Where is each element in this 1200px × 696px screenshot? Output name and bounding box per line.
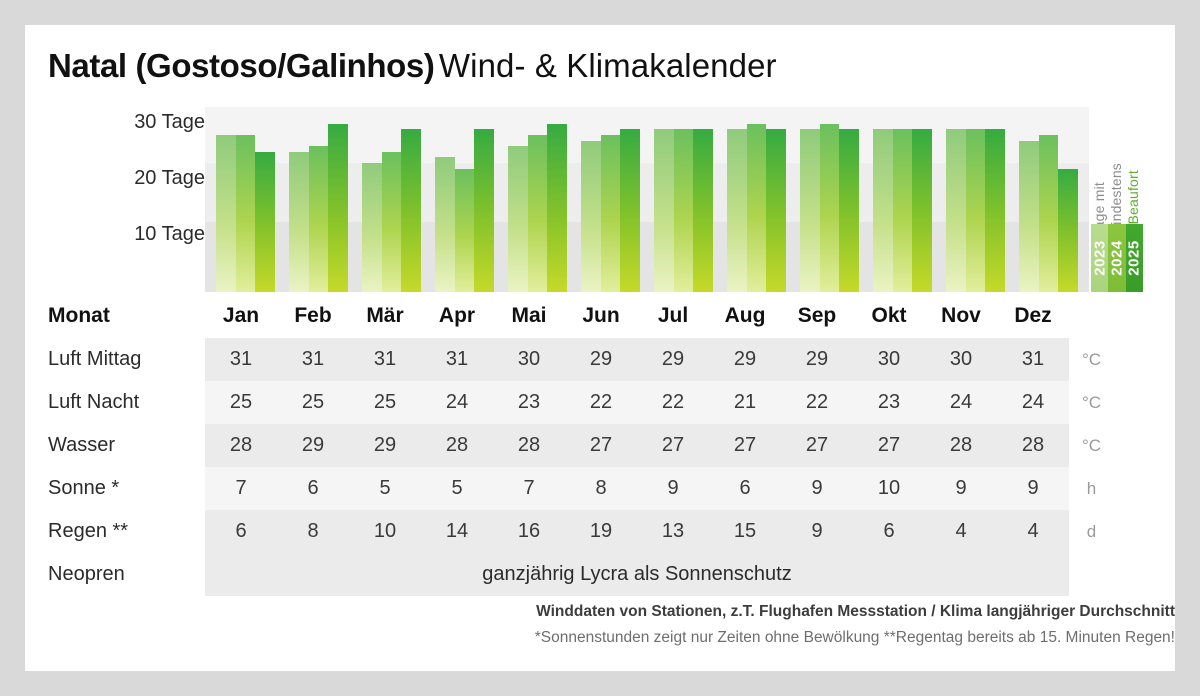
bar-aug-2023 <box>727 129 747 292</box>
table-cell: 28 <box>421 424 493 467</box>
row-unit: °C <box>1069 381 1114 424</box>
bar-jun-2023 <box>581 141 601 292</box>
table-header-unit <box>1069 293 1114 338</box>
table-cell: 29 <box>709 338 781 381</box>
table-header-month-sep: Sep <box>781 293 853 338</box>
bar-mai-2024 <box>528 135 548 292</box>
bar-mai-2023 <box>508 146 528 292</box>
table-row: Luft Mittag313131313029292929303031°C <box>25 338 1114 381</box>
table-cell: 30 <box>853 338 925 381</box>
table-cell: 31 <box>421 338 493 381</box>
table-header-month-okt: Okt <box>853 293 925 338</box>
chart-y-axis: 30 Tage20 Tage10 Tage <box>25 107 205 292</box>
table-header-month-feb: Feb <box>277 293 349 338</box>
footnote-definitions: *Sonnenstunden zeigt nur Zeiten ohne Bew… <box>25 625 1175 651</box>
bar-okt-2023 <box>873 129 893 292</box>
bar-okt-2025 <box>912 129 932 292</box>
chart-legend: Tage mit mindestens 4 Beaufort 2023 2024… <box>1089 107 1175 292</box>
table-cell: 5 <box>349 467 421 510</box>
bar-group-jan <box>209 107 282 292</box>
bar-mär-2024 <box>382 152 402 292</box>
table-cell: 6 <box>205 510 277 553</box>
bar-group-dez <box>1012 107 1085 292</box>
bar-group-apr <box>428 107 501 292</box>
bar-jan-2024 <box>236 135 256 292</box>
chart-bars <box>205 107 1089 292</box>
bar-apr-2025 <box>474 129 494 292</box>
table-header-row: MonatJanFebMärAprMaiJunJulAugSepOktNovDe… <box>25 293 1114 338</box>
footnote-sources: Winddaten von Stationen, z.T. Flughafen … <box>25 599 1175 625</box>
bar-group-jul <box>647 107 720 292</box>
bar-sep-2024 <box>820 124 840 292</box>
table-cell: 4 <box>997 510 1069 553</box>
table-cell: 22 <box>637 381 709 424</box>
table-cell: 27 <box>637 424 709 467</box>
bar-mär-2023 <box>362 163 382 292</box>
table-cell: 31 <box>277 338 349 381</box>
bar-jan-2025 <box>255 152 275 292</box>
table-cell: 31 <box>349 338 421 381</box>
bar-group-feb <box>282 107 355 292</box>
bar-group-sep <box>793 107 866 292</box>
table-cell: 16 <box>493 510 565 553</box>
table-cell: 23 <box>493 381 565 424</box>
table-cell: 28 <box>925 424 997 467</box>
table-row: Regen **681014161913159644d <box>25 510 1114 553</box>
row-label: Luft Mittag <box>25 338 205 381</box>
table-cell: 23 <box>853 381 925 424</box>
table-header-month-jan: Jan <box>205 293 277 338</box>
table-cell: 21 <box>709 381 781 424</box>
row-label: Wasser <box>25 424 205 467</box>
neopren-recommendation: ganzjährig Lycra als Sonnenschutz <box>205 553 1069 596</box>
table-cell: 6 <box>853 510 925 553</box>
page-title-location: Natal (Gostoso/Galinhos) <box>48 47 434 84</box>
row-label: Sonne * <box>25 467 205 510</box>
table-cell: 5 <box>421 467 493 510</box>
table-cell: 9 <box>781 467 853 510</box>
table-header-month-nov: Nov <box>925 293 997 338</box>
table-cell: 31 <box>205 338 277 381</box>
table-cell: 8 <box>277 510 349 553</box>
legend-swatch-2024: 2024 <box>1108 224 1125 292</box>
row-label: Luft Nacht <box>25 381 205 424</box>
table-header-month-mär: Mär <box>349 293 421 338</box>
bar-group-okt <box>866 107 939 292</box>
bar-group-mär <box>355 107 428 292</box>
table-cell: 25 <box>349 381 421 424</box>
y-axis-tick-30: 30 Tage <box>134 111 205 134</box>
table-cell: 31 <box>997 338 1069 381</box>
bar-jul-2023 <box>654 129 674 292</box>
bar-okt-2024 <box>893 129 913 292</box>
row-unit: °C <box>1069 424 1114 467</box>
table-cell: 9 <box>781 510 853 553</box>
row-unit <box>1069 553 1114 596</box>
table-cell: 27 <box>565 424 637 467</box>
table-cell: 7 <box>205 467 277 510</box>
bar-sep-2023 <box>800 129 820 292</box>
table-cell: 27 <box>709 424 781 467</box>
table-row: Sonne *7655789691099h <box>25 467 1114 510</box>
bar-nov-2024 <box>966 129 986 292</box>
table-cell: 6 <box>277 467 349 510</box>
bar-jan-2023 <box>216 135 236 292</box>
climate-table: MonatJanFebMärAprMaiJunJulAugSepOktNovDe… <box>25 293 1114 596</box>
table-header-month-mai: Mai <box>493 293 565 338</box>
bar-group-aug <box>720 107 793 292</box>
table-header-month-jul: Jul <box>637 293 709 338</box>
bar-jun-2025 <box>620 129 640 292</box>
table-cell: 29 <box>781 338 853 381</box>
table-cell: 28 <box>997 424 1069 467</box>
legend-swatch-label: 2024 <box>1108 240 1125 275</box>
table-cell: 13 <box>637 510 709 553</box>
page-title-subject: Wind- & Klimakalender <box>439 47 777 84</box>
table-cell: 4 <box>925 510 997 553</box>
row-unit: h <box>1069 467 1114 510</box>
calendar-card: Natal (Gostoso/Galinhos) Wind- & Klimaka… <box>25 25 1175 671</box>
table-row-neopren: Neoprenganzjährig Lycra als Sonnenschutz <box>25 553 1114 596</box>
legend-swatch-label: 2023 <box>1091 240 1108 275</box>
table-header-label: Monat <box>25 293 205 338</box>
table-cell: 25 <box>205 381 277 424</box>
table-cell: 28 <box>205 424 277 467</box>
footnotes: Winddaten von Stationen, z.T. Flughafen … <box>25 599 1175 651</box>
table-cell: 14 <box>421 510 493 553</box>
table-cell: 30 <box>925 338 997 381</box>
bar-sep-2025 <box>839 129 859 292</box>
table-cell: 29 <box>637 338 709 381</box>
bar-jul-2024 <box>674 129 694 292</box>
row-label: Regen ** <box>25 510 205 553</box>
legend-swatch-label: 2025 <box>1126 240 1143 275</box>
table-cell: 27 <box>853 424 925 467</box>
table-cell: 25 <box>277 381 349 424</box>
bar-jun-2024 <box>601 135 621 292</box>
table-cell: 8 <box>565 467 637 510</box>
y-axis-tick-20: 20 Tage <box>134 167 205 190</box>
bar-dez-2024 <box>1039 135 1059 292</box>
y-axis-tick-10: 10 Tage <box>134 223 205 246</box>
bar-aug-2025 <box>766 129 786 292</box>
chart-legend-year-swatches: 2023 2024 2025 <box>1091 224 1143 292</box>
row-unit: °C <box>1069 338 1114 381</box>
table-cell: 28 <box>493 424 565 467</box>
table-cell: 24 <box>925 381 997 424</box>
table-cell: 15 <box>709 510 781 553</box>
table-cell: 27 <box>781 424 853 467</box>
bar-feb-2023 <box>289 152 309 292</box>
table-cell: 9 <box>925 467 997 510</box>
table-row: Luft Nacht252525242322222122232424°C <box>25 381 1114 424</box>
legend-swatch-2025: 2025 <box>1126 224 1143 292</box>
table-cell: 10 <box>349 510 421 553</box>
legend-swatch-2023: 2023 <box>1091 224 1108 292</box>
bar-group-mai <box>501 107 574 292</box>
climate-table-zone: MonatJanFebMärAprMaiJunJulAugSepOktNovDe… <box>25 293 1175 596</box>
bar-mai-2025 <box>547 124 567 292</box>
table-cell: 9 <box>997 467 1069 510</box>
row-label: Neopren <box>25 553 205 596</box>
page-title: Natal (Gostoso/Galinhos) Wind- & Klimaka… <box>48 46 777 86</box>
chart-plot-area <box>205 107 1089 292</box>
table-cell: 30 <box>493 338 565 381</box>
chart-legend-caption: Tage mit mindestens 4 Beaufort <box>1089 107 1159 237</box>
table-cell: 29 <box>277 424 349 467</box>
bar-group-nov <box>939 107 1012 292</box>
table-cell: 7 <box>493 467 565 510</box>
bar-aug-2024 <box>747 124 767 292</box>
table-header-month-aug: Aug <box>709 293 781 338</box>
bar-feb-2025 <box>328 124 348 292</box>
bar-nov-2023 <box>946 129 966 292</box>
table-header-month-apr: Apr <box>421 293 493 338</box>
table-header-month-jun: Jun <box>565 293 637 338</box>
table-cell: 6 <box>709 467 781 510</box>
bar-apr-2024 <box>455 169 475 292</box>
bar-dez-2023 <box>1019 141 1039 292</box>
table-cell: 9 <box>637 467 709 510</box>
bar-apr-2023 <box>435 157 455 292</box>
table-cell: 29 <box>565 338 637 381</box>
bar-mär-2025 <box>401 129 421 292</box>
table-cell: 24 <box>421 381 493 424</box>
table-cell: 29 <box>349 424 421 467</box>
table-cell: 22 <box>565 381 637 424</box>
bar-dez-2025 <box>1058 169 1078 292</box>
table-cell: 22 <box>781 381 853 424</box>
row-unit: d <box>1069 510 1114 553</box>
table-cell: 19 <box>565 510 637 553</box>
table-row: Wasser282929282827272727272828°C <box>25 424 1114 467</box>
bar-feb-2024 <box>309 146 329 292</box>
bar-jul-2025 <box>693 129 713 292</box>
table-cell: 24 <box>997 381 1069 424</box>
bar-nov-2025 <box>985 129 1005 292</box>
table-header-month-dez: Dez <box>997 293 1069 338</box>
table-cell: 10 <box>853 467 925 510</box>
bar-group-jun <box>574 107 647 292</box>
wind-chart: 30 Tage20 Tage10 Tage Tage mit mindesten… <box>25 107 1175 292</box>
